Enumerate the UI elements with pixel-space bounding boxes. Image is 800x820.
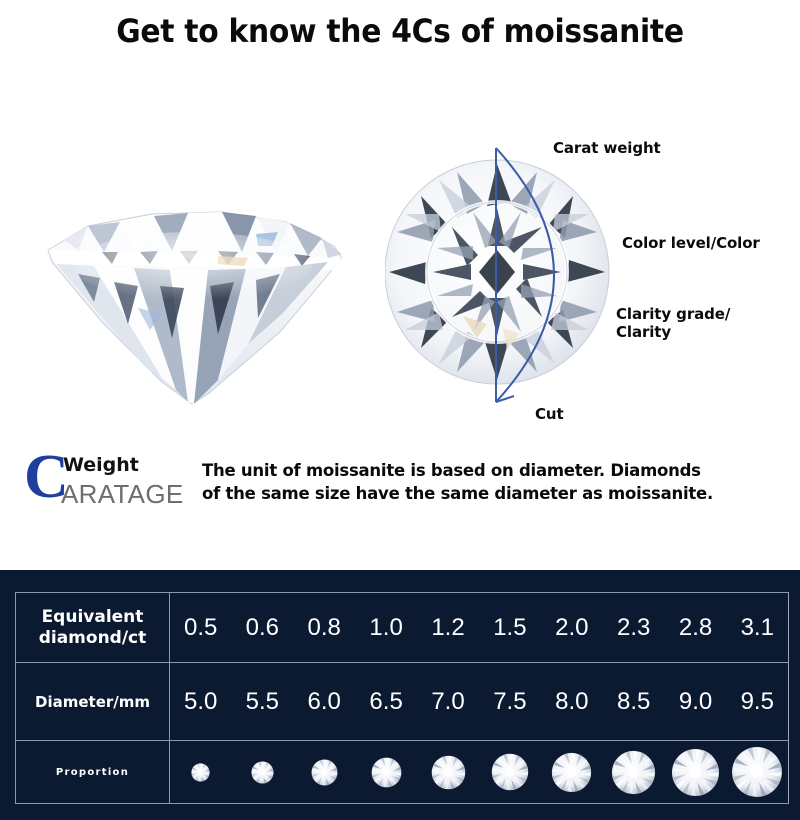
cell-carat-9: 3.1 (727, 593, 789, 663)
gem-icon-3 (355, 741, 417, 803)
gem-icon-2 (293, 741, 355, 803)
side-view-brilliant-diamond (42, 182, 348, 414)
intro-paragraph: The unit of moissanite is based on diame… (202, 459, 722, 506)
page-title: Get to know the 4Cs of moissanite (28, 12, 772, 50)
callout-color-level: Color level/Color (622, 235, 760, 253)
caratage-weight-label: Weight (63, 454, 139, 476)
cell-diameter-0: 5.0 (170, 663, 232, 741)
gem-icon-8 (665, 741, 727, 803)
callout-cut: Cut (535, 406, 564, 424)
spec-panel: Equivalent diamond/ct 0.5 0.6 0.8 1.0 1.… (0, 570, 800, 820)
cell-diameter-2: 6.0 (293, 663, 355, 741)
gem-icon-6 (541, 741, 603, 803)
cell-diameter-8: 9.0 (665, 663, 727, 741)
cell-diameter-5: 7.5 (479, 663, 541, 741)
row-label-equivalent-diamond: Equivalent diamond/ct (16, 593, 170, 663)
cell-proportion-4 (417, 741, 479, 804)
cell-carat-4: 1.2 (417, 593, 479, 663)
cell-carat-8: 2.8 (665, 593, 727, 663)
cell-diameter-9: 9.5 (727, 663, 789, 741)
caratage-wordmark: ARATAGE (61, 479, 184, 510)
cell-diameter-3: 6.5 (355, 663, 417, 741)
table-row-diameter: Diameter/mm 5.0 5.5 6.0 6.5 7.0 7.5 8.0 … (16, 663, 789, 741)
cell-proportion-2 (293, 741, 355, 804)
cell-proportion-7 (603, 741, 665, 804)
cell-diameter-7: 8.5 (603, 663, 665, 741)
cell-diameter-4: 7.0 (417, 663, 479, 741)
cell-carat-0: 0.5 (170, 593, 232, 663)
gem-icon-0 (170, 741, 231, 803)
cell-proportion-6 (541, 741, 603, 804)
gem-icon-9 (727, 741, 788, 803)
cell-proportion-0 (170, 741, 232, 804)
gem-icon-7 (603, 741, 665, 803)
cell-proportion-3 (355, 741, 417, 804)
cell-diameter-6: 8.0 (541, 663, 603, 741)
size-comparison-table: Equivalent diamond/ct 0.5 0.6 0.8 1.0 1.… (15, 592, 789, 804)
callout-clarity-grade: Clarity grade/ Clarity (616, 306, 730, 341)
table-row-proportion: Proportion (16, 741, 789, 804)
top-view-round-diamond (385, 148, 615, 396)
cell-carat-5: 1.5 (479, 593, 541, 663)
row-label-diameter: Diameter/mm (16, 663, 170, 741)
cell-proportion-1 (231, 741, 293, 804)
cell-carat-7: 2.3 (603, 593, 665, 663)
callout-carat-weight: Carat weight (553, 140, 661, 158)
cell-proportion-8 (665, 741, 727, 804)
cell-carat-2: 0.8 (293, 593, 355, 663)
gem-icon-1 (231, 741, 293, 803)
cell-carat-1: 0.6 (231, 593, 293, 663)
gem-icon-4 (417, 741, 479, 803)
gem-icon-5 (479, 741, 541, 803)
hero-illustration: Carat weight Color level/Color Clarity g… (0, 110, 800, 430)
cell-proportion-9 (727, 741, 789, 804)
cell-carat-3: 1.0 (355, 593, 417, 663)
table-row-equivalent-diamond: Equivalent diamond/ct 0.5 0.6 0.8 1.0 1.… (16, 593, 789, 663)
caratage-logo: C Weight ARATAGE (24, 450, 199, 512)
cell-proportion-5 (479, 741, 541, 804)
cell-carat-6: 2.0 (541, 593, 603, 663)
row-label-proportion: Proportion (16, 741, 170, 804)
cell-diameter-1: 5.5 (231, 663, 293, 741)
